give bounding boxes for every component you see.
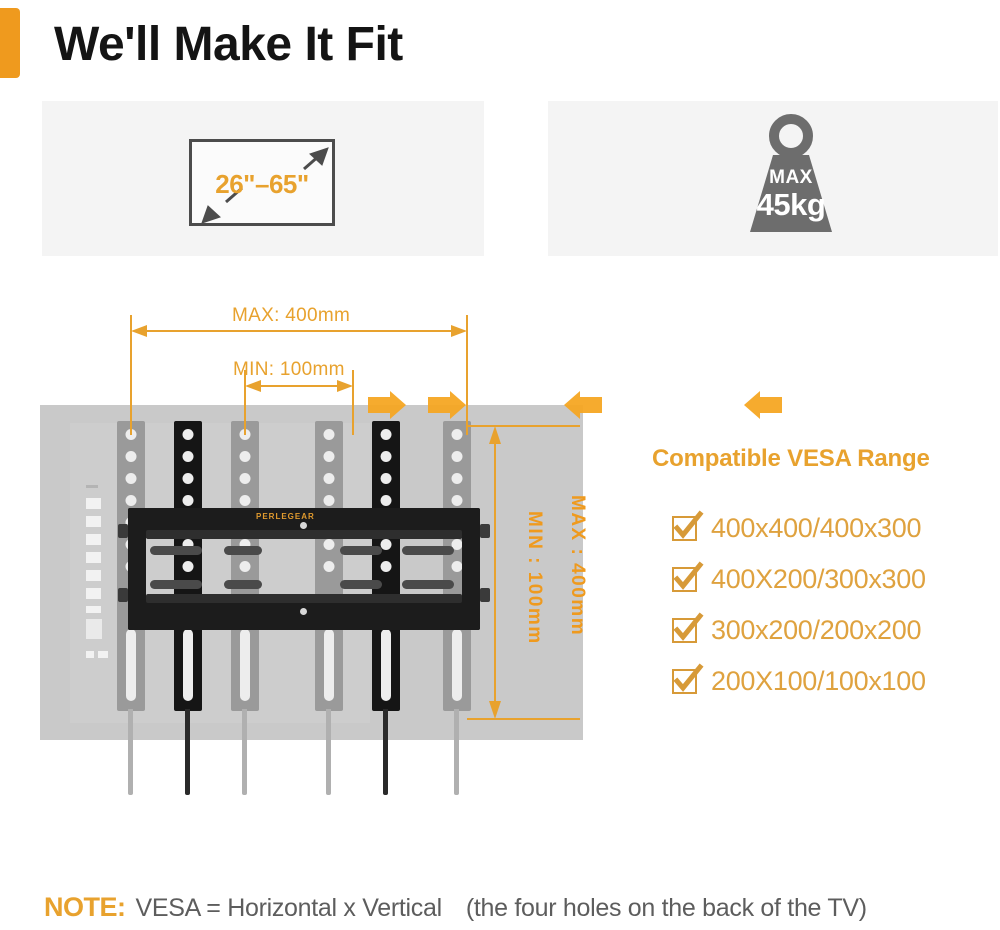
dim-vertical-min-label: MIN : 100mm [523,511,545,645]
vesa-title: Compatible VESA Range [652,445,930,473]
dim-horizontal-min-label: MIN: 100mm [233,359,345,381]
vesa-range-panel: Compatible VESA Range 400x400/400x300 40… [652,445,930,707]
screen-size-label: 26"–65" [192,169,332,200]
note-label: NOTE: [44,892,126,923]
vesa-list: 400x400/400x300 400X200/300x300 300x200/… [652,503,930,707]
max-weight-card: MAX 45kg [548,101,998,256]
vesa-list-item: 300x200/200x200 [652,605,930,656]
weight-block-icon: MAX 45kg [726,113,856,245]
page-title: We'll Make It Fit [54,13,403,77]
screen-size-card: 26"–65" [42,101,484,256]
accent-bar [0,8,20,78]
mount-illustration: PERLEGEAR [0,295,620,805]
weight-shape-icon [726,113,856,245]
vesa-list-item: 200X100/100x100 [652,656,930,707]
vesa-item-label: 200X100/100x100 [711,666,926,697]
checkbox-checked-icon [672,618,697,643]
checkbox-checked-icon [672,567,697,592]
vesa-list-item: 400x400/400x300 [652,503,930,554]
note-text: VESA = Horizontal x Vertical [136,894,442,923]
vesa-item-label: 400X200/300x300 [711,564,926,595]
vesa-item-label: 300x200/200x200 [711,615,921,646]
checkbox-checked-icon [672,516,697,541]
vesa-list-item: 400X200/300x300 [652,554,930,605]
note-row: NOTE: VESA = Horizontal x Vertical (the … [44,892,867,923]
vesa-item-label: 400x400/400x300 [711,513,921,544]
tv-diagonal-icon: 26"–65" [189,139,335,226]
dim-vertical-max-label: MAX : 400mm [566,495,588,636]
checkbox-checked-icon [672,669,697,694]
infographic-page: We'll Make It Fit 26"–65" MAX [0,0,1000,930]
spread-arrows-icon [368,391,782,419]
dim-horizontal-max-label: MAX: 400mm [232,305,350,327]
note-parenthetical: (the four holes on the back of the TV) [466,894,867,923]
